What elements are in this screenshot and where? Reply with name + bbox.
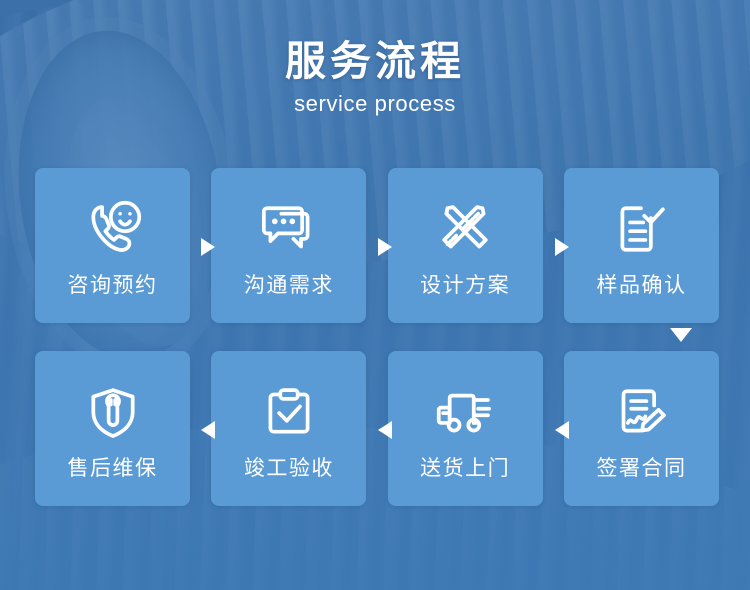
process-card-sample-confirm[interactable]: 样品确认 [564, 168, 719, 323]
arrow-left-icon [555, 421, 569, 439]
process-card-label: 咨询预约 [68, 273, 158, 298]
process-card-design[interactable]: 设计方案 [388, 168, 543, 323]
arrow-right-icon [555, 238, 569, 256]
document-check-icon [606, 194, 676, 264]
process-card-communication[interactable]: 沟通需求 [211, 168, 366, 323]
process-card-consultation[interactable]: 咨询预约 [35, 168, 190, 323]
process-card-label: 竣工验收 [244, 456, 334, 481]
process-card-sign-contract[interactable]: 签署合同 [564, 351, 719, 506]
shield-wrench-icon [78, 377, 148, 447]
row-spacer [35, 323, 719, 351]
page-subtitle: service process [0, 92, 750, 116]
process-card-delivery[interactable]: 送货上门 [388, 351, 543, 506]
phone-smile-icon [78, 194, 148, 264]
process-row-1: 咨询预约 沟通需求 [35, 168, 719, 323]
process-card-label: 设计方案 [420, 273, 510, 298]
process-grid: 咨询预约 沟通需求 [35, 168, 719, 506]
arrow-left-icon [201, 421, 215, 439]
page-title: 服务流程 [0, 38, 750, 85]
process-card-label: 沟通需求 [244, 273, 334, 298]
pencil-ruler-icon [430, 194, 500, 264]
process-row-2: 售后维保 竣工验收 [35, 351, 719, 506]
contract-pen-icon [606, 377, 676, 447]
process-card-completion-acceptance[interactable]: 竣工验收 [211, 351, 366, 506]
page-header: 服务流程 service process [0, 38, 750, 116]
process-card-label: 签署合同 [596, 456, 686, 481]
arrow-right-icon [201, 238, 215, 256]
process-card-label: 样品确认 [596, 273, 686, 298]
arrow-left-icon [378, 421, 392, 439]
process-card-after-sales[interactable]: 售后维保 [35, 351, 190, 506]
service-process-page: 服务流程 service process 咨询预约 [0, 0, 750, 590]
process-card-label: 送货上门 [420, 456, 510, 481]
delivery-truck-icon [430, 377, 500, 447]
arrow-down-icon [670, 328, 692, 342]
chat-bubbles-icon [254, 194, 324, 264]
clipboard-check-icon [254, 377, 324, 447]
arrow-right-icon [378, 238, 392, 256]
process-card-label: 售后维保 [68, 456, 158, 481]
